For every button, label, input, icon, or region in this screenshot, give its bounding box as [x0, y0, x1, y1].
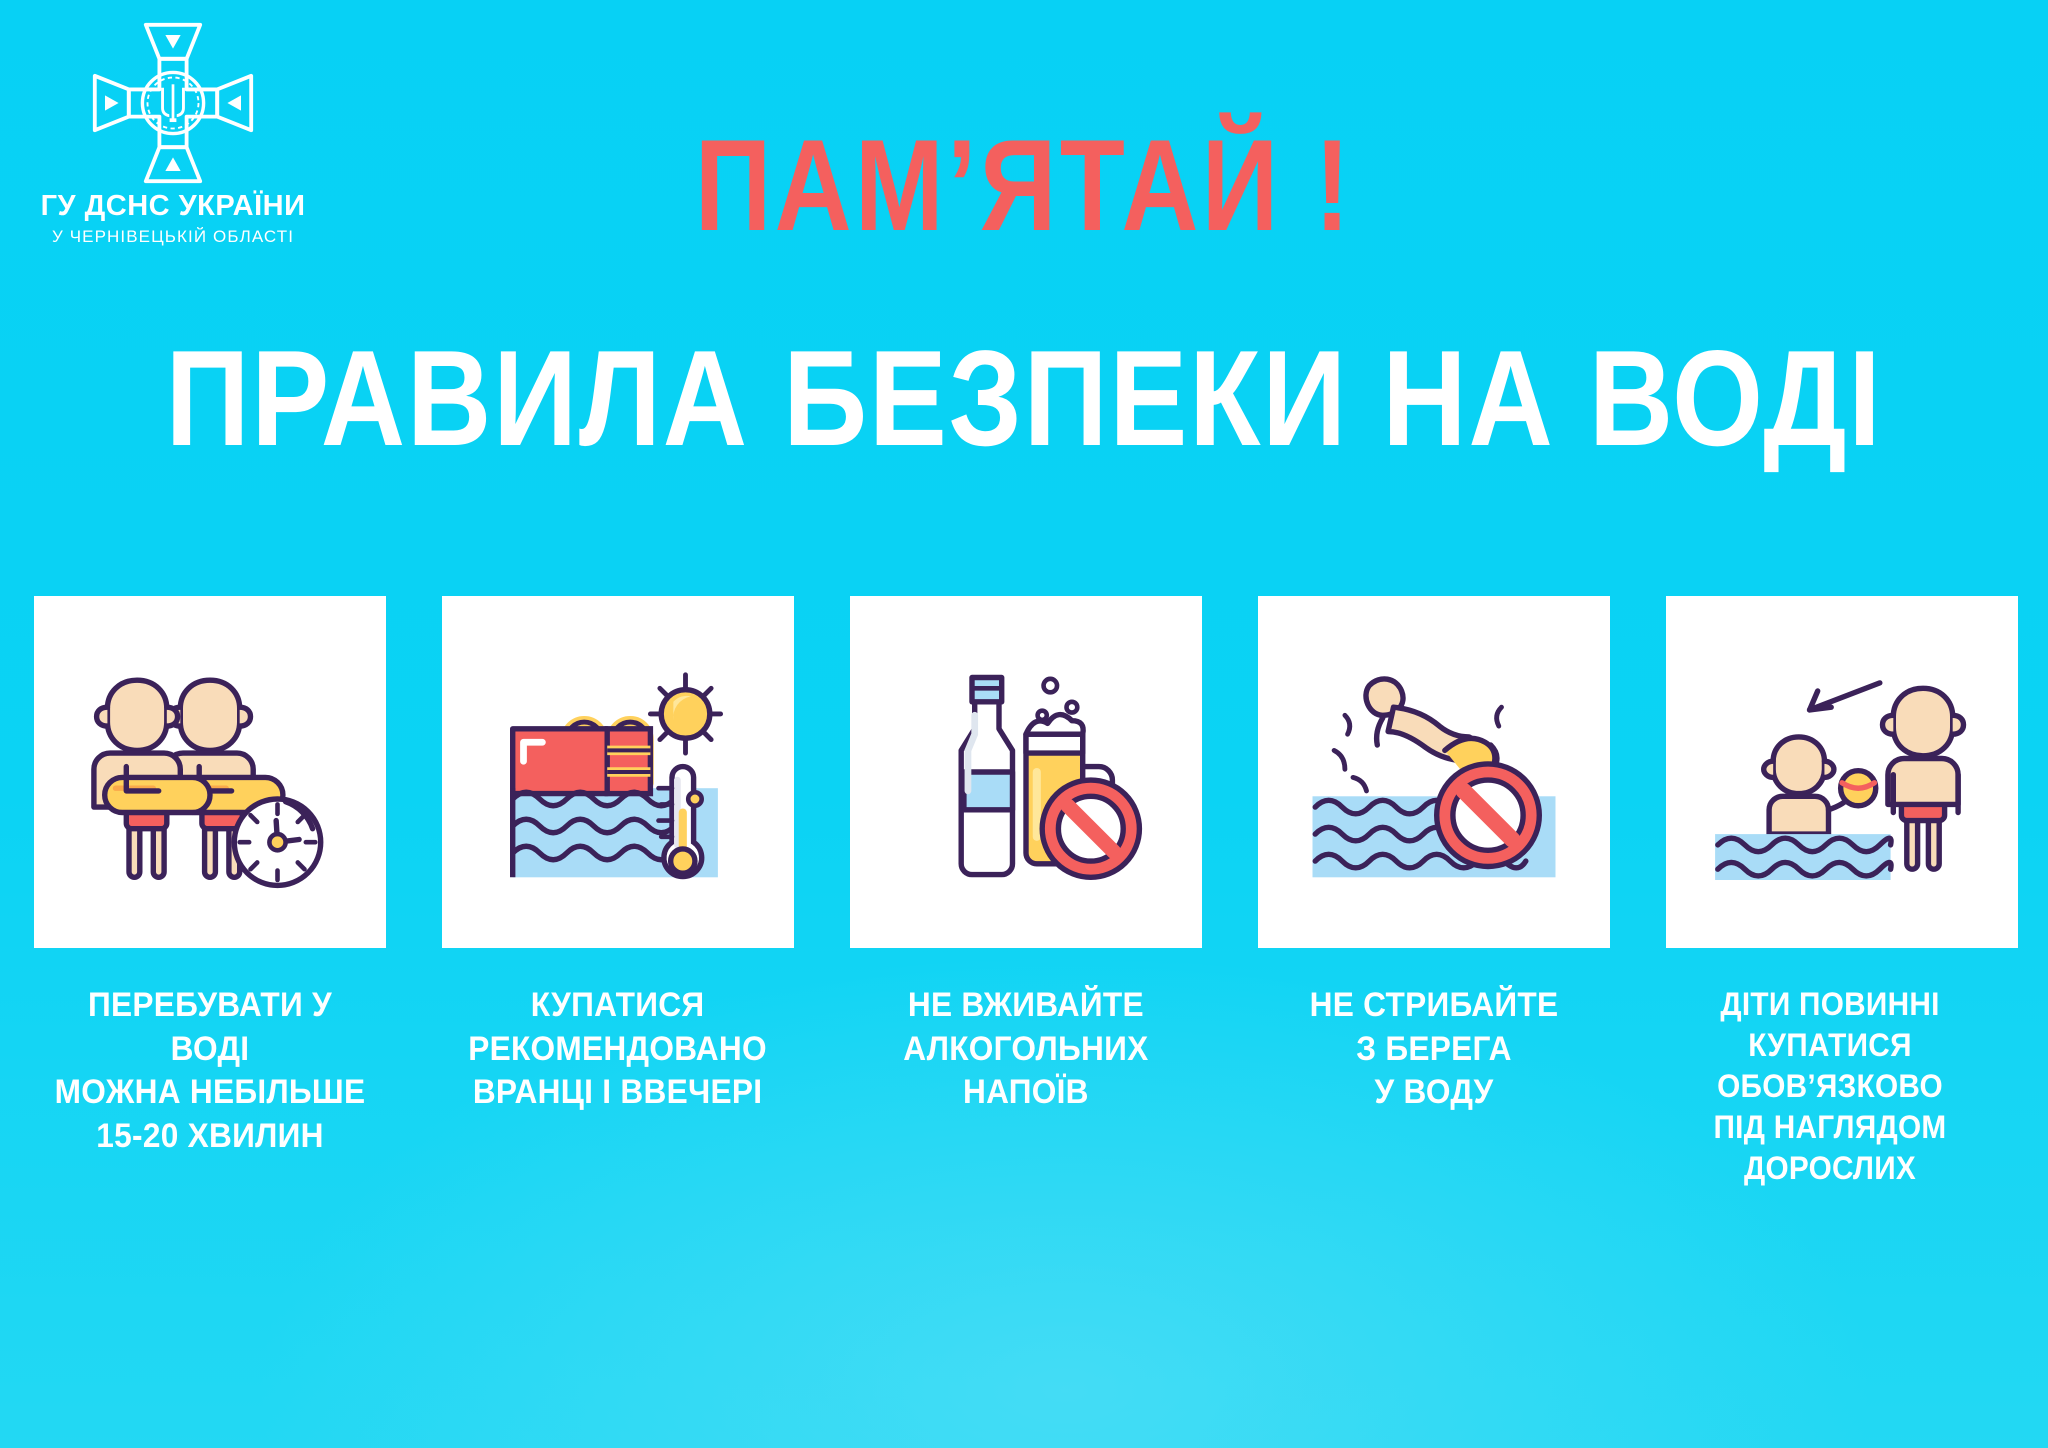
- rule-card-5: ДІТИ ПОВИННІ КУПАТИСЯ ОБОВ’ЯЗКОВО ПІД НА…: [1666, 596, 2018, 1189]
- rule-icon-tile-5: [1666, 596, 2018, 948]
- eyebrow-heading: ПАМ’ЯТАЙ !: [184, 120, 1863, 250]
- rule-icon-tile-4: [1258, 596, 1610, 948]
- child-supervised-by-adult-icon: [1707, 637, 1977, 907]
- rule-caption-5: ДІТИ ПОВИННІ КУПАТИСЯ ОБОВ’ЯЗКОВО ПІД НА…: [1644, 984, 2016, 1189]
- poster-root: ГУ ДСНС УКРАЇНИ У ЧЕРНІВЕЦЬКІЙ ОБЛАСТІ П…: [0, 0, 2048, 1448]
- rules-card-row: ПЕРЕБУВАТИ У ВОДІ МОЖНА НЕБІЛЬШЕ 15-20 Х…: [34, 596, 2018, 1189]
- no-jumping-into-water-icon: [1299, 637, 1569, 907]
- rule-card-2: КУПАТИСЯ РЕКОМЕНДОВАНО ВРАНЦІ І ВВЕЧЕРІ: [442, 596, 794, 1115]
- alcohol-bottle-and-beer-prohibited-icon: [891, 637, 1161, 907]
- rule-icon-tile-3: [850, 596, 1202, 948]
- two-swimmers-with-rings-and-stopwatch-icon: [75, 637, 345, 907]
- rule-caption-1: ПЕРЕБУВАТИ У ВОДІ МОЖНА НЕБІЛЬШЕ 15-20 Х…: [46, 984, 373, 1158]
- page-title: ПРАВИЛА БЕЗПЕКИ НА ВОДІ: [143, 330, 1904, 466]
- rule-card-1: ПЕРЕБУВАТИ У ВОДІ МОЖНА НЕБІЛЬШЕ 15-20 Х…: [34, 596, 386, 1158]
- rule-caption-3: НЕ ВЖИВАЙТЕ АЛКОГОЛЬНИХ НАПОЇВ: [903, 984, 1148, 1115]
- rule-icon-tile-1: [34, 596, 386, 948]
- rule-card-4: НЕ СТРИБАЙТЕ З БЕРЕГА У ВОДУ: [1258, 596, 1610, 1115]
- rule-icon-tile-2: [442, 596, 794, 948]
- rule-caption-2: КУПАТИСЯ РЕКОМЕНДОВАНО ВРАНЦІ І ВВЕЧЕРІ: [469, 984, 768, 1115]
- rule-card-3: НЕ ВЖИВАЙТЕ АЛКОГОЛЬНИХ НАПОЇВ: [850, 596, 1202, 1115]
- pool-with-sun-and-thermometer-icon: [483, 637, 753, 907]
- rule-caption-4: НЕ СТРИБАЙТЕ З БЕРЕГА У ВОДУ: [1281, 984, 1588, 1115]
